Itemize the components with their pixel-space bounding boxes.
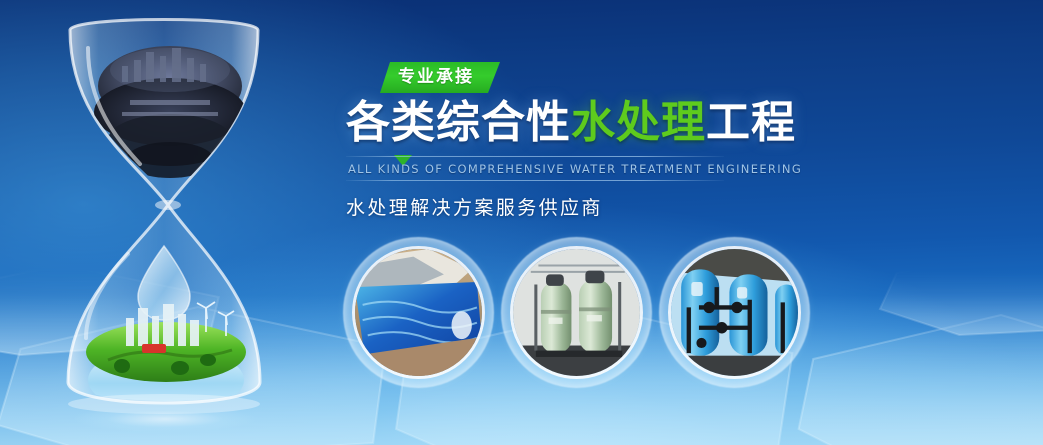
hourglass-illustration	[30, 8, 298, 440]
photo-disc	[510, 246, 643, 379]
thumbnail-pressure-vessels[interactable]	[668, 246, 801, 379]
english-subtitle: ALL KINDS OF COMPREHENSIVE WATER TREATME…	[346, 157, 724, 180]
tagline: 水处理解决方案服务供应商	[346, 193, 766, 220]
headline-block: 专业承接 各类综合性水处理工程 ALL KINDS OF COMPREHENSI…	[346, 62, 766, 220]
thumbnail-swimming-pool[interactable]	[352, 246, 485, 379]
thumbnail-row	[352, 246, 802, 386]
hourglass-reflection	[74, 406, 256, 432]
rule-bottom	[346, 180, 724, 181]
title-highlight: 水处理	[571, 97, 706, 148]
hero-banner: 专业承接 各类综合性水处理工程 ALL KINDS OF COMPREHENSI…	[0, 0, 1043, 445]
thumbnail-filtration-tanks[interactable]	[510, 246, 643, 379]
service-badge: 专业承接	[380, 62, 500, 93]
english-subtitle-block: ALL KINDS OF COMPREHENSIVE WATER TREATME…	[346, 156, 724, 181]
title-part1: 各类综合性	[346, 97, 571, 148]
page-title: 各类综合性水处理工程	[346, 99, 766, 147]
title-part2: 工程	[706, 97, 796, 148]
photo-disc	[352, 246, 485, 379]
photo-disc	[668, 246, 801, 379]
